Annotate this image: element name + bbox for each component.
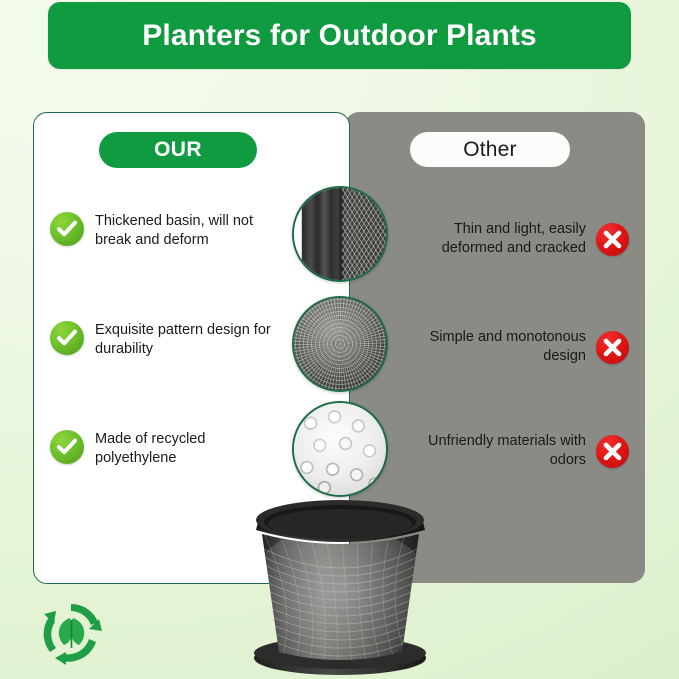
x-circle-icon — [596, 223, 629, 256]
drawback-label: Thin and light, easily deformed and crac… — [425, 220, 586, 258]
drawback-label: Unfriendly materials with odors — [425, 432, 586, 470]
detail-image-woven-pattern — [292, 296, 388, 392]
check-circle-icon — [50, 321, 84, 355]
eco-recycle-leaf-icon — [36, 598, 106, 668]
drawback-row: Unfriendly materials with odors — [425, 432, 629, 470]
drawback-row: Simple and monotonous design — [400, 328, 629, 366]
feature-row: Made of recycled polyethylene — [50, 430, 277, 468]
infographic-canvas: Planters for Outdoor Plants OUR Other Th… — [0, 0, 679, 679]
feature-label: Thickened basin, will not break and defo… — [95, 212, 277, 250]
feature-label: Made of recycled polyethylene — [95, 430, 277, 468]
page-title: Planters for Outdoor Plants — [142, 19, 536, 53]
x-circle-icon — [596, 435, 629, 468]
feature-row: Exquisite pattern design for durability — [50, 321, 277, 359]
detail-image-pot-wall — [292, 186, 388, 282]
feature-label: Exquisite pattern design for durability — [95, 321, 277, 359]
feature-row: Thickened basin, will not break and defo… — [50, 212, 277, 250]
detail-image-plastic-pellets — [292, 401, 388, 497]
x-circle-icon — [596, 331, 629, 364]
title-banner: Planters for Outdoor Plants — [48, 2, 631, 69]
other-header-label: Other — [463, 138, 517, 162]
check-circle-icon — [50, 430, 84, 464]
product-photo-planter — [238, 500, 443, 679]
our-header-pill: OUR — [99, 132, 257, 168]
drawback-label: Simple and monotonous design — [416, 328, 586, 366]
other-header-pill: Other — [410, 132, 570, 167]
check-circle-icon — [50, 212, 84, 246]
drawback-row: Thin and light, easily deformed and crac… — [425, 220, 629, 258]
our-header-label: OUR — [154, 138, 202, 162]
